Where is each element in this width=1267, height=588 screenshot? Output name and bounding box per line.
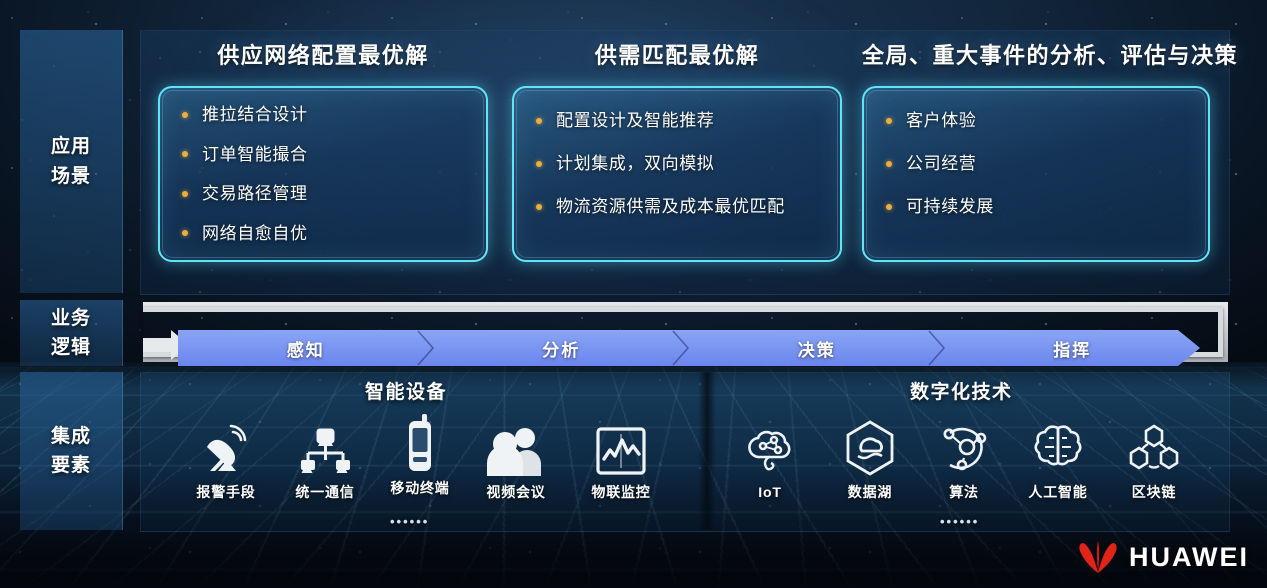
artificial-intelligence-icon — [1010, 418, 1106, 476]
algorithm-icon — [916, 418, 1012, 476]
list-item: 公司经营 — [886, 155, 1194, 172]
list-item-label: 可持续发展 — [906, 198, 994, 215]
sidebar-item-business-logic[interactable]: 业务 逻辑 — [20, 300, 123, 366]
list-item: 网络自愈自优 — [182, 225, 472, 242]
iot-cloud-icon — [722, 420, 818, 478]
integration-item-unified-comm[interactable]: 统一通信 — [277, 418, 373, 502]
satellite-dish-icon — [178, 418, 274, 476]
bullet-dot-icon — [182, 112, 188, 118]
flow-step-label: 分析 — [542, 336, 580, 361]
scenario-title: 供需匹配最优解 — [512, 38, 842, 70]
integration-group-title-smart-devices: 智能设备 — [365, 377, 447, 404]
list-item-label: 公司经营 — [906, 155, 976, 172]
list-item: 订单智能撮合 — [182, 146, 472, 163]
integration-item-mobile-terminal[interactable]: 移动终端 — [372, 414, 468, 498]
flow-step-command[interactable]: 指挥 — [945, 330, 1201, 366]
integration-group-ellipsis-smart-devices: •••••• — [390, 514, 429, 529]
data-lake-icon — [822, 418, 918, 476]
list-item-label: 网络自愈自优 — [202, 225, 308, 242]
integration-item-label: 移动终端 — [372, 478, 468, 498]
list-item: 推拉结合设计 — [182, 106, 472, 123]
list-item: 计划集成，双向模拟 — [536, 155, 826, 172]
list-item: 配置设计及智能推荐 — [536, 112, 826, 129]
sidebar-label-line1: 集成 — [51, 422, 91, 451]
scenario-card[interactable]: 客户体验 公司经营 可持续发展 — [862, 86, 1210, 262]
integration-group-title-digital-tech: 数字化技术 — [910, 377, 1013, 404]
list-item-label: 配置设计及智能推荐 — [556, 112, 714, 129]
sidebar-label-line2: 要素 — [51, 451, 91, 480]
integration-item-video-conference[interactable]: 视频会议 — [468, 418, 564, 502]
sidebar-item-application-scenario[interactable]: 应用 场景 — [20, 30, 123, 293]
integration-group-divider — [698, 372, 716, 530]
sidebar-label-line2: 场景 — [51, 162, 91, 191]
flow-step-analyze[interactable]: 分析 — [434, 330, 690, 366]
integration-item-label: 算法 — [916, 482, 1012, 502]
blockchain-icon — [1106, 418, 1202, 476]
mobile-terminal-icon — [372, 414, 468, 472]
integration-item-label: 视频会议 — [468, 482, 564, 502]
bullet-dot-icon — [182, 230, 188, 236]
flow-step-label: 感知 — [287, 336, 325, 361]
bullet-dot-icon — [536, 118, 542, 124]
integration-item-algorithm[interactable]: 算法 — [916, 418, 1012, 502]
bullet-dot-icon — [886, 118, 892, 124]
unified-communication-icon — [277, 418, 373, 476]
scenario-title: 全局、重大事件的分析、评估与决策 — [862, 38, 1210, 70]
video-conference-icon — [468, 418, 564, 476]
list-item-label: 物流资源供需及成本最优匹配 — [556, 198, 785, 215]
huawei-logo: HUAWEI — [1077, 540, 1249, 574]
flow-step-decide[interactable]: 决策 — [689, 330, 945, 366]
integration-item-iot-monitoring[interactable]: 物联监控 — [573, 418, 669, 502]
flow-step-label: 决策 — [798, 336, 836, 361]
integration-item-ai[interactable]: 人工智能 — [1010, 418, 1106, 502]
bullet-dot-icon — [886, 161, 892, 167]
sidebar-item-integration-elements[interactable]: 集成 要素 — [20, 372, 123, 530]
integration-item-label: 物联监控 — [573, 482, 669, 502]
integration-item-label: 数据湖 — [822, 482, 918, 502]
integration-item-iot[interactable]: IoT — [722, 420, 818, 500]
list-item: 物流资源供需及成本最优匹配 — [536, 198, 826, 215]
huawei-flower-logo — [1077, 540, 1119, 574]
business-logic-flow: 感知 分析 决策 指挥 — [178, 330, 1200, 366]
integration-item-label: 报警手段 — [178, 482, 274, 502]
list-item: 可持续发展 — [886, 198, 1194, 215]
chevron-separator-icon — [672, 330, 690, 366]
list-item-label: 交易路径管理 — [202, 185, 308, 202]
scenario-card[interactable]: 配置设计及智能推荐 计划集成，双向模拟 物流资源供需及成本最优匹配 — [512, 86, 842, 262]
list-item-label: 计划集成，双向模拟 — [556, 155, 714, 172]
list-item-label: 订单智能撮合 — [202, 146, 308, 163]
bullet-dot-icon — [536, 204, 542, 210]
list-item: 交易路径管理 — [182, 185, 472, 202]
iot-monitoring-icon — [573, 418, 669, 476]
scenario-card[interactable]: 推拉结合设计 订单智能撮合 交易路径管理 网络自愈自优 — [158, 86, 488, 262]
scenario-column-global-decision: 全局、重大事件的分析、评估与决策 客户体验 公司经营 可持续发展 — [862, 38, 1210, 262]
flow-step-perceive[interactable]: 感知 — [178, 330, 434, 366]
integration-item-blockchain[interactable]: 区块链 — [1106, 418, 1202, 502]
integration-item-data-lake[interactable]: 数据湖 — [822, 418, 918, 502]
scenario-title: 供应网络配置最优解 — [158, 38, 488, 70]
huawei-wordmark: HUAWEI — [1129, 542, 1249, 573]
bullet-dot-icon — [536, 161, 542, 167]
sidebar-label-line2: 逻辑 — [51, 333, 91, 362]
flow-step-label: 指挥 — [1053, 336, 1091, 361]
chevron-separator-icon — [928, 330, 946, 366]
integration-item-label: 人工智能 — [1010, 482, 1106, 502]
list-item: 客户体验 — [886, 112, 1194, 129]
scenario-column-supply-network: 供应网络配置最优解 推拉结合设计 订单智能撮合 交易路径管理 网络自愈自优 — [158, 38, 488, 262]
integration-item-label: 统一通信 — [277, 482, 373, 502]
integration-item-alarm[interactable]: 报警手段 — [178, 418, 274, 502]
sidebar-label-line1: 应用 — [51, 132, 91, 161]
list-item-label: 推拉结合设计 — [202, 106, 308, 123]
bullet-dot-icon — [886, 204, 892, 210]
bullet-dot-icon — [182, 191, 188, 197]
scenario-column-supply-demand-match: 供需匹配最优解 配置设计及智能推荐 计划集成，双向模拟 物流资源供需及成本最优匹… — [512, 38, 842, 262]
integration-item-label: IoT — [722, 484, 818, 500]
integration-item-label: 区块链 — [1106, 482, 1202, 502]
list-item-label: 客户体验 — [906, 112, 976, 129]
slide-canvas: 应用 场景 业务 逻辑 集成 要素 供应网络配置最优解 推拉结合设计 订单智能撮… — [0, 0, 1267, 588]
integration-group-ellipsis-digital-tech: •••••• — [940, 514, 979, 529]
sidebar-label-line1: 业务 — [51, 304, 91, 333]
chevron-separator-icon — [417, 330, 435, 366]
bullet-dot-icon — [182, 151, 188, 157]
